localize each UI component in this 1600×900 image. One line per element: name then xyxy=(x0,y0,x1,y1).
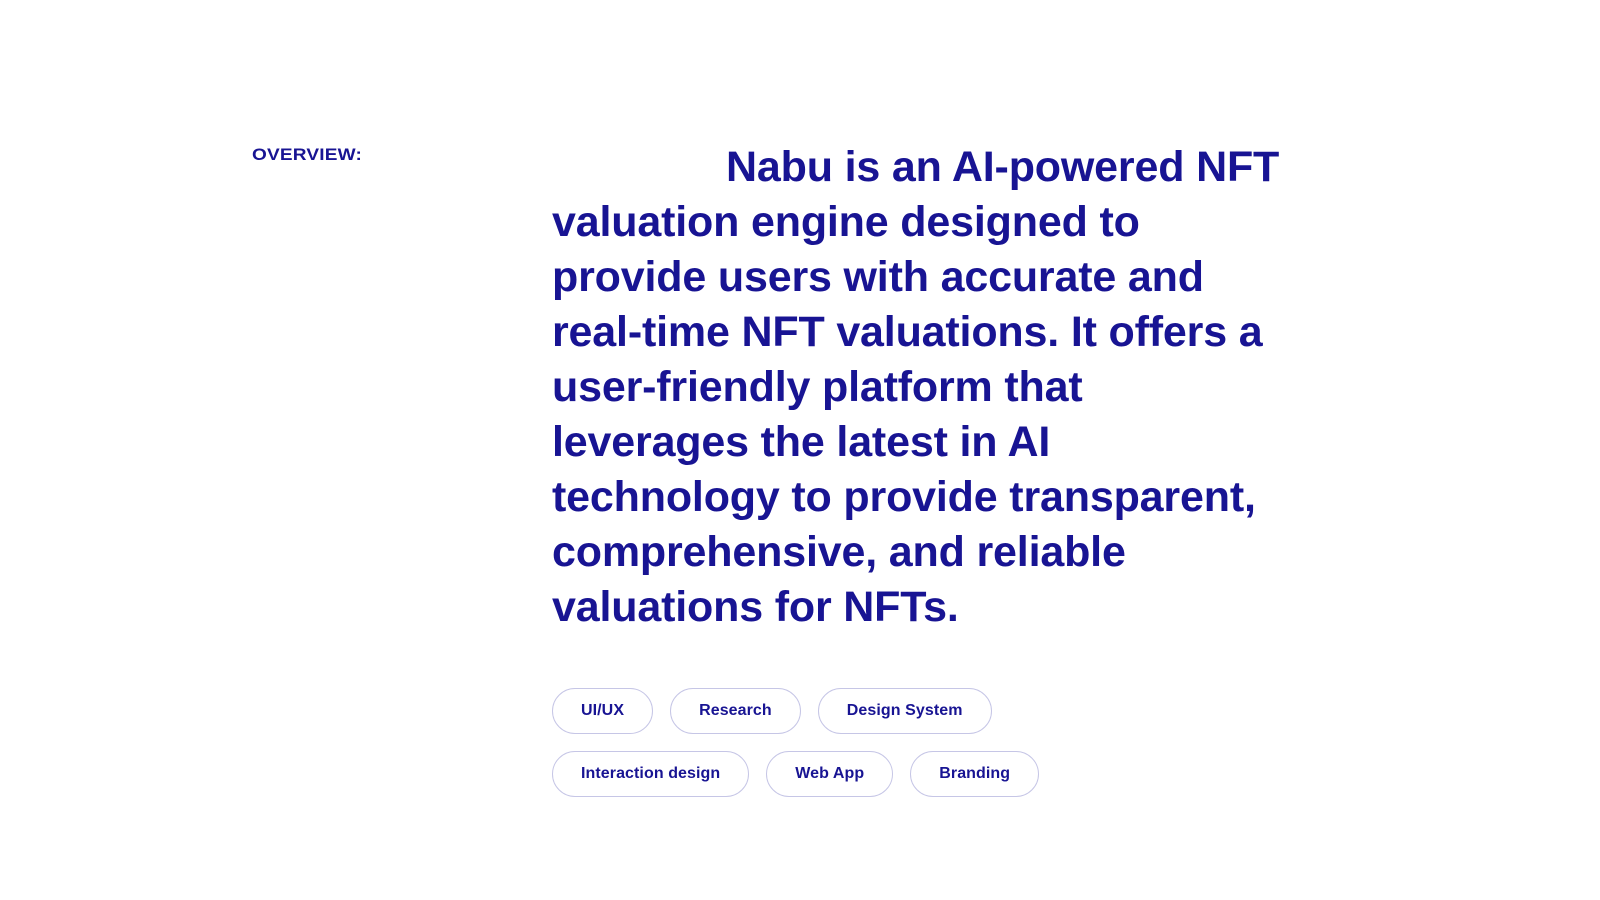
tag-row-1: UI/UX Research Design System xyxy=(552,688,992,734)
overview-paragraph: Nabu is an AI-powered NFT valuation engi… xyxy=(552,140,1288,635)
tag-pill-design-system[interactable]: Design System xyxy=(818,688,992,734)
overview-label: OVERVIEW: xyxy=(252,146,362,165)
tag-pill-ui-ux[interactable]: UI/UX xyxy=(552,688,653,734)
overview-content-column: Nabu is an AI-powered NFT valuation engi… xyxy=(552,140,1288,797)
overview-section-page: OVERVIEW: Nabu is an AI-powered NFT valu… xyxy=(0,0,1600,900)
tag-row-2: Interaction design Web App Branding xyxy=(552,751,1039,797)
tag-pill-branding[interactable]: Branding xyxy=(910,751,1039,797)
tag-pill-interaction-design[interactable]: Interaction design xyxy=(552,751,749,797)
tag-pill-research[interactable]: Research xyxy=(670,688,801,734)
tag-groups: UI/UX Research Design System Interaction… xyxy=(552,688,1288,797)
tag-pill-web-app[interactable]: Web App xyxy=(766,751,893,797)
